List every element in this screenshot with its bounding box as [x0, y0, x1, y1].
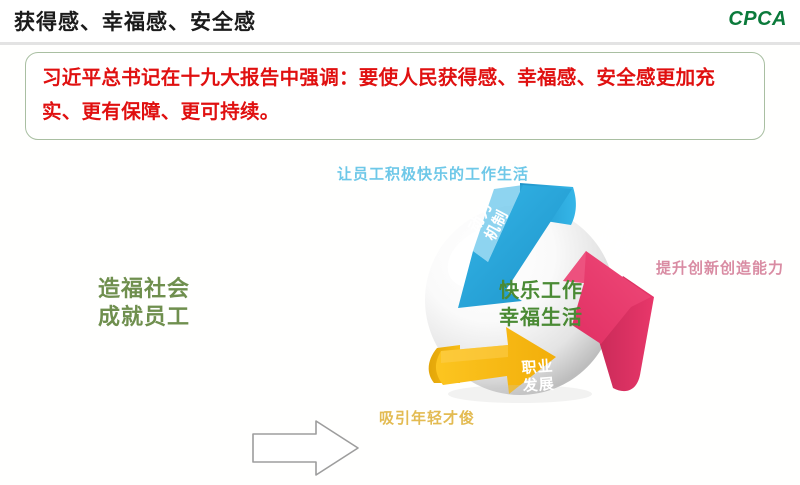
sphere-center-label: 快乐工作 幸福生活 — [499, 278, 583, 332]
caption-capability: 提升创新创造能力 — [656, 257, 784, 278]
sphere-shadow — [448, 385, 592, 403]
left-slogan: 造福社会 成就员工 — [98, 275, 190, 331]
header-divider — [0, 42, 800, 45]
flow-arrow-icon — [253, 421, 358, 475]
left-slogan-line2: 成就员工 — [98, 303, 190, 331]
sphere-center-line1: 快乐工作 — [499, 278, 583, 305]
cpca-logo: CPCA — [728, 8, 787, 31]
quote-text: 习近平总书记在十九大报告中强调：要使人民获得感、幸福感、安全感更加充实、更有保障… — [42, 61, 754, 129]
caption-career: 吸引年轻才俊 — [379, 407, 475, 428]
page-title: 获得感、幸福感、安全感 — [14, 6, 256, 36]
career-arrow-label-line2: 发展 — [522, 376, 555, 396]
sphere-center-line2: 幸福生活 — [499, 305, 583, 332]
career-arrow-label: 职业 发展 — [521, 358, 555, 396]
slide-header: 获得感、幸福感、安全感 CPCA — [0, 0, 800, 43]
cycle-diagram: 造福社会 成就员工 让员工积极快乐的工作生活 提升创新创造能力 吸引年轻才俊 快… — [0, 145, 800, 485]
quote-callout-box: 习近平总书记在十九大报告中强调：要使人民获得感、幸福感、安全感更加充实、更有保障… — [25, 52, 765, 140]
career-arrow-label-line1: 职业 — [521, 358, 554, 378]
caption-motivation: 让员工积极快乐的工作生活 — [337, 163, 529, 184]
left-slogan-line1: 造福社会 — [98, 275, 190, 303]
